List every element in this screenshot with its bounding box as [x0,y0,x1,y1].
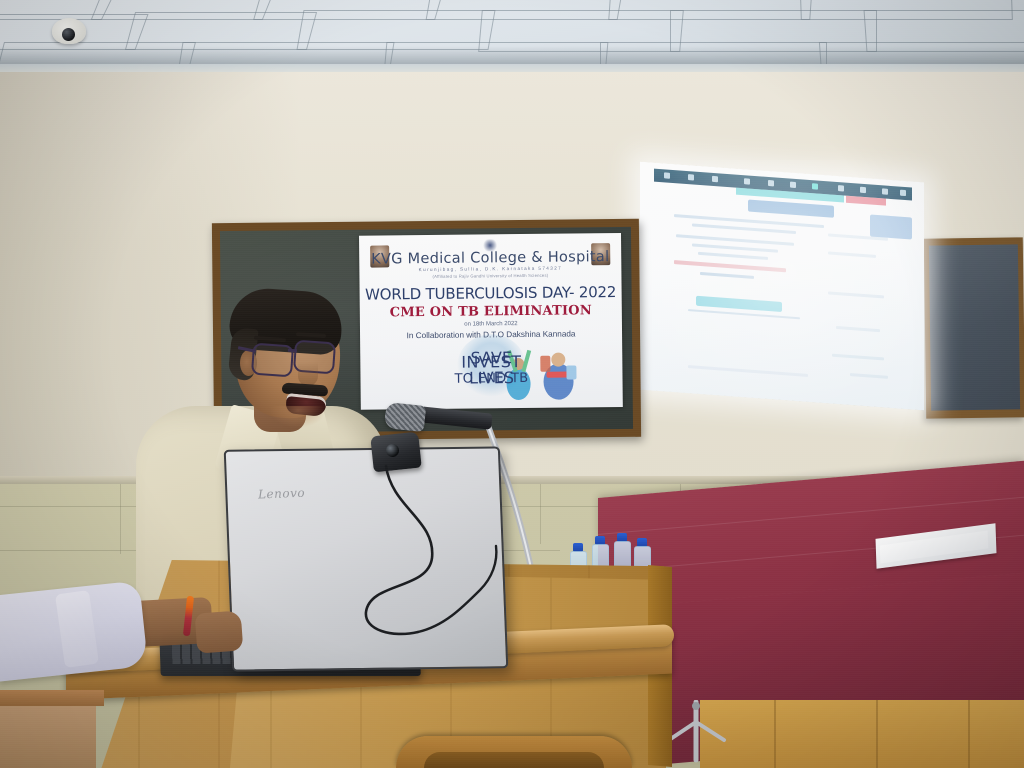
speaker-nose [298,362,318,386]
toolbar-icon-5[interactable] [768,180,774,186]
floor [0,700,96,768]
toolbar-icon-8[interactable] [838,185,844,191]
projection-screen [640,160,924,410]
toolbar-icon-11[interactable] [900,190,906,196]
skirting-board [0,690,104,706]
laptop-lid[interactable] [224,446,509,671]
presentation-tooltip [748,200,834,218]
projection-screen-surface [640,162,924,411]
chalkboard-right [924,237,1024,418]
chair-backrest-inner [424,752,604,768]
toolbar-icon-9[interactable] [860,187,866,193]
toolbar-icon-4[interactable] [744,178,750,184]
photo-scene: KVG Medical College & Hospital Kurunjiba… [0,0,1024,768]
toolbar-icon-6[interactable] [790,182,796,188]
toolbar-icon-7[interactable] [812,183,818,189]
presentation-menu-panel[interactable] [870,214,912,239]
assistant-hand [195,610,244,653]
eyeglasses-bridge [288,349,297,352]
microphone-head [384,402,426,432]
chalkboard-right-surface [929,244,1020,410]
stage-wood-panel [700,700,1024,768]
toolbar-icon-3[interactable] [712,176,718,182]
banner-affiliation: (Affiliated to Rajiv Gandhi University o… [359,272,621,280]
toolbar-icon-1[interactable] [664,172,670,178]
toolbar-icon-2[interactable] [688,174,694,180]
slide-cta-button [696,296,782,312]
toolbar-icon-10[interactable] [882,188,888,194]
smoke-detector-lens [62,28,75,41]
